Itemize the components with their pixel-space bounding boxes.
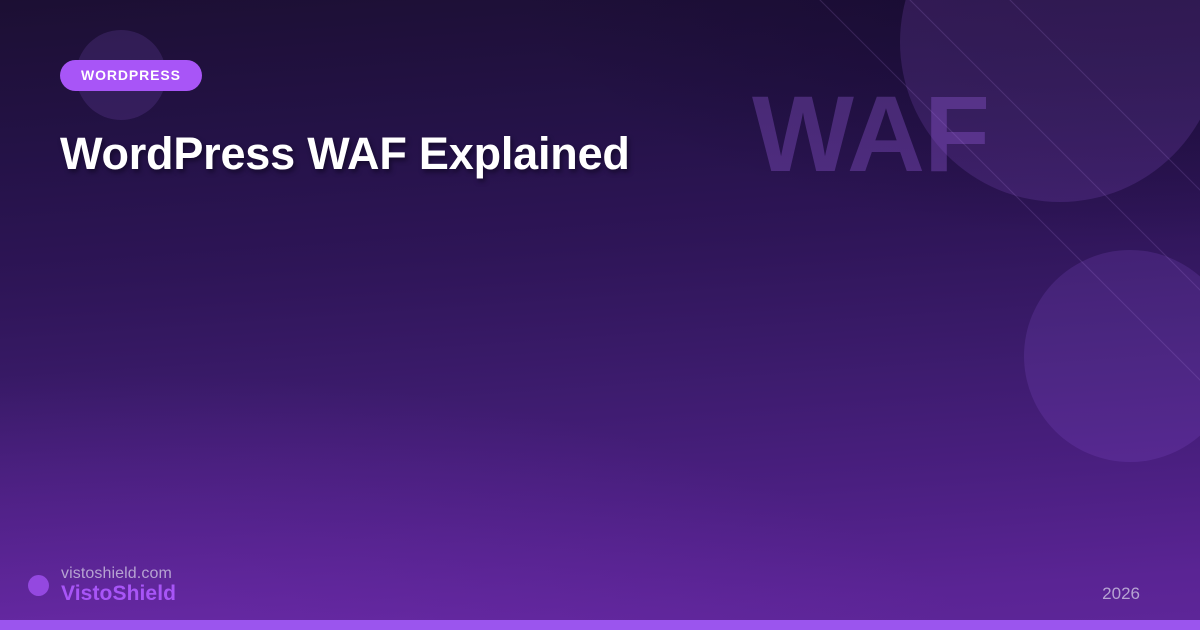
site-domain: vistoshield.com: [61, 565, 176, 583]
card-content: WORDPRESS WordPress WAF Explained: [60, 60, 1140, 179]
brand-dot-icon: [28, 575, 49, 596]
bottom-accent-bar: [0, 620, 1200, 630]
social-share-card: WAF WORDPRESS WordPress WAF Explained vi…: [0, 0, 1200, 630]
card-footer: vistoshield.com VistoShield 2026: [0, 524, 1200, 620]
brand-block[interactable]: vistoshield.com VistoShield: [28, 565, 176, 620]
brand-name: VistoShield: [61, 582, 176, 606]
page-title: WordPress WAF Explained: [60, 129, 760, 179]
footer-year: 2026: [1102, 584, 1140, 620]
decorative-circle-bottom-right: [1024, 250, 1200, 462]
category-badge[interactable]: WORDPRESS: [60, 60, 202, 91]
brand-text: vistoshield.com VistoShield: [61, 565, 176, 606]
